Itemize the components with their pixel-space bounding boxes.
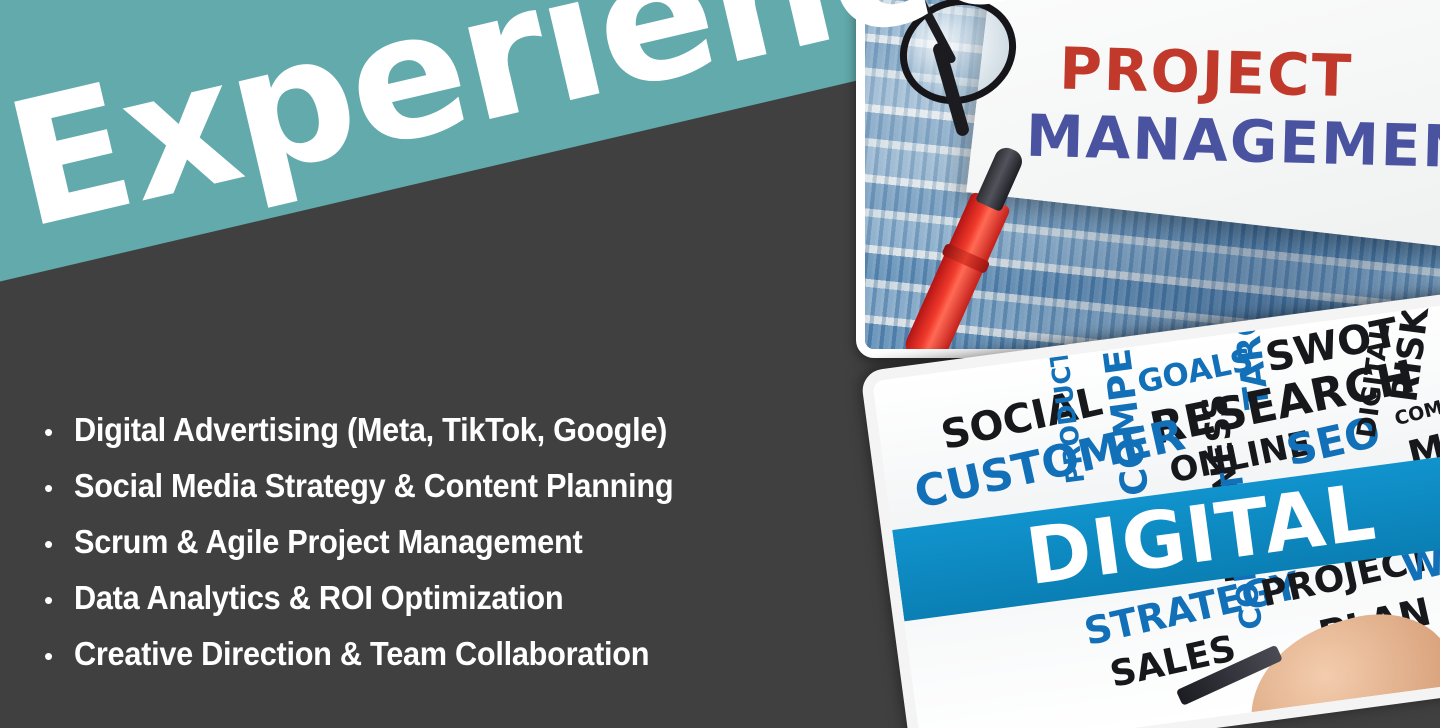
paper-text-line-1: PROJECT [1058, 35, 1353, 111]
list-item: • Digital Advertising (Meta, TikTok, Goo… [44, 408, 844, 454]
list-item: • Social Media Strategy & Content Planni… [44, 464, 844, 510]
paper-text-line-2: MANAGEMENT [1025, 102, 1440, 183]
list-item: • Creative Direction & Team Collaboratio… [44, 632, 844, 678]
list-item: • Scrum & Agile Project Management [44, 520, 844, 566]
bullet-dot-icon: • [44, 410, 74, 454]
list-item-label: Social Media Strategy & Content Planning [74, 464, 673, 508]
word-cloud-word: RISK [1387, 305, 1435, 404]
list-item-label: Data Analytics & ROI Optimization [74, 576, 563, 620]
list-item: • Data Analytics & ROI Optimization [44, 576, 844, 622]
bullet-dot-icon: • [44, 634, 74, 678]
experience-slide: Experience • Digital Advertising (Meta, … [0, 0, 1440, 728]
list-item-label: Scrum & Agile Project Management [74, 520, 582, 564]
word-cloud-canvas: SOCIALPRODUCTCOMPETITIONGOALSTARGETSWOTR… [872, 300, 1440, 728]
list-item-label: Digital Advertising (Meta, TikTok, Googl… [74, 408, 667, 452]
bullet-dot-icon: • [44, 522, 74, 566]
bullet-dot-icon: • [44, 578, 74, 622]
experience-bullet-list: • Digital Advertising (Meta, TikTok, Goo… [44, 408, 844, 688]
list-item-label: Creative Direction & Team Collaboration [74, 632, 649, 676]
bullet-dot-icon: • [44, 466, 74, 510]
